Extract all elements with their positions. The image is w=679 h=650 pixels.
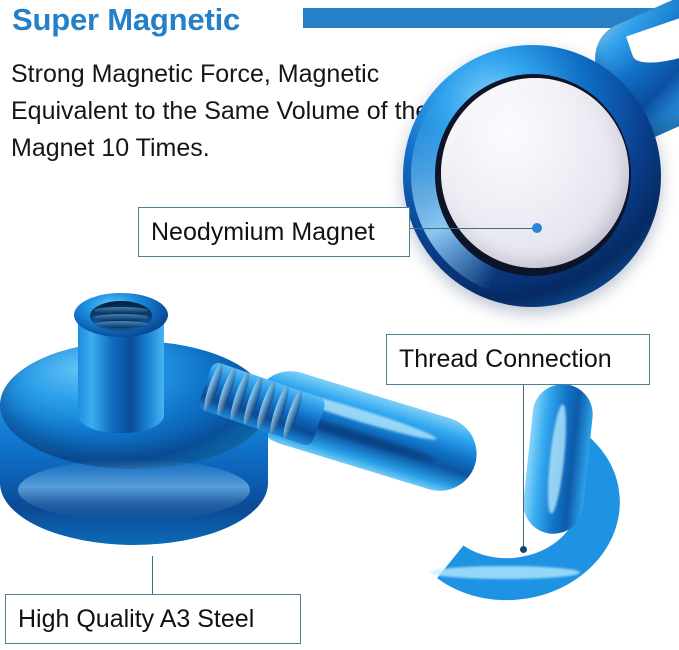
leader-line-steel bbox=[152, 556, 153, 594]
pot-magnet-bottom-image bbox=[0, 283, 326, 583]
callout-label: Thread Connection bbox=[387, 345, 624, 374]
hook-gloss bbox=[430, 566, 580, 579]
leader-dot-neodymium bbox=[532, 223, 542, 233]
product-infographic: Super Magnetic Strong Magnetic Force, Ma… bbox=[0, 0, 679, 650]
callout-thread-connection: Thread Connection bbox=[386, 334, 650, 385]
callout-label: High Quality A3 Steel bbox=[6, 605, 266, 634]
leader-line-neodymium bbox=[410, 228, 536, 229]
cup-magnet-top-image bbox=[393, 10, 679, 320]
bore-thread-ring bbox=[94, 321, 148, 328]
leader-dot-thread bbox=[520, 546, 527, 553]
callout-high-quality-a3-steel: High Quality A3 Steel bbox=[5, 594, 301, 644]
leader-line-thread bbox=[523, 385, 524, 550]
bore-thread-ring bbox=[94, 307, 148, 314]
bore-thread-ring bbox=[94, 314, 148, 321]
callout-label: Neodymium Magnet bbox=[139, 218, 387, 247]
magnet-base-rim-highlight bbox=[18, 459, 250, 521]
page-title: Super Magnetic bbox=[12, 2, 240, 38]
neodymium-disc-face bbox=[441, 78, 629, 268]
callout-neodymium-magnet: Neodymium Magnet bbox=[138, 207, 410, 257]
description-text: Strong Magnetic Force, Magnetic Equivale… bbox=[11, 56, 431, 167]
